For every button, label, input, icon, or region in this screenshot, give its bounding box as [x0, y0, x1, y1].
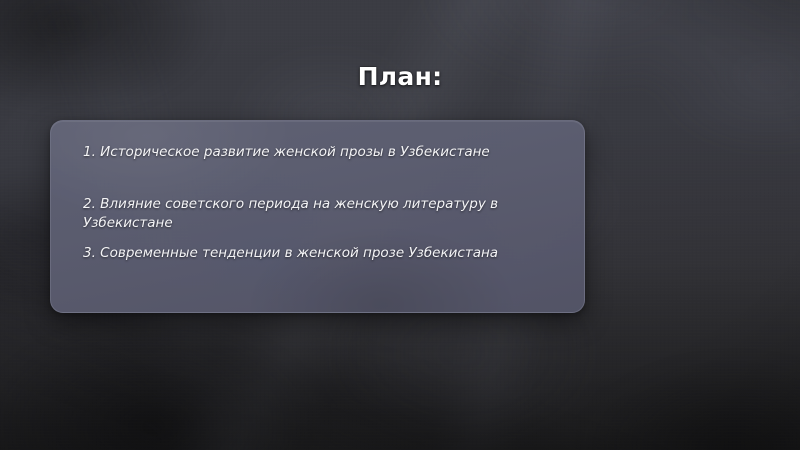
presentation-slide: План: 1. Историческое развитие женской п… [0, 0, 800, 450]
slide-title: План: [0, 62, 800, 91]
plan-item: 2. Влияние советского периода на женскую… [83, 195, 553, 233]
plan-list: 1. Историческое развитие женской прозы в… [51, 121, 584, 263]
plan-item: 1. Историческое развитие женской прозы в… [83, 143, 553, 162]
plan-card: 1. Историческое развитие женской прозы в… [50, 120, 585, 313]
plan-item: 3. Современные тенденции в женской прозе… [83, 244, 553, 263]
